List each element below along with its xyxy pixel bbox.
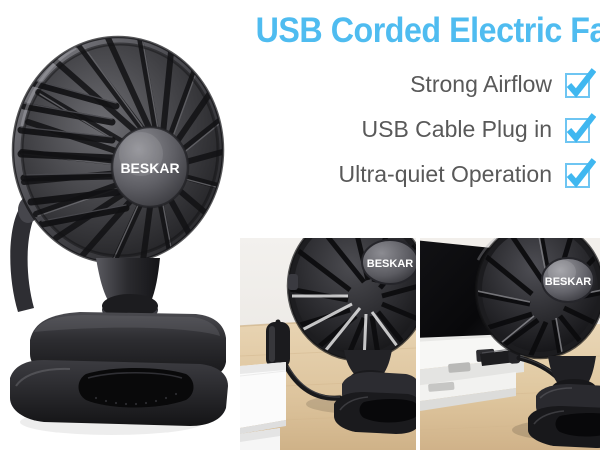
photo-laptop: BESKAR <box>420 238 600 450</box>
feature-item-ultra-quiet-operation: Ultra-quiet Operation <box>250 152 596 197</box>
photo-usb-adapter: BESKAR <box>240 238 416 450</box>
feature-item-strong-airflow: Strong Airflow <box>250 62 596 107</box>
photo-brand-label: BESKAR <box>367 258 414 270</box>
check-mark <box>564 68 596 100</box>
product-marketing-image: BESKAR USB Corded E <box>0 0 600 450</box>
feature-label: Ultra-quiet Operation <box>339 161 553 188</box>
check-mark <box>564 158 596 190</box>
photo-brand-label: BESKAR <box>545 276 592 288</box>
checkbox-checked-icon <box>564 69 596 101</box>
check-mark <box>564 113 596 145</box>
feature-list: Strong Airflow USB Cable Plug in Ultra-q… <box>250 62 596 197</box>
feature-item-usb-cable-plug-in: USB Cable Plug in <box>250 107 596 152</box>
feature-label: Strong Airflow <box>410 71 552 98</box>
page-title: USB Corded Electric Fan <box>256 8 596 56</box>
checkbox-checked-icon <box>564 159 596 191</box>
checkbox-checked-icon <box>564 114 596 146</box>
hero-brand-label: BESKAR <box>120 160 179 176</box>
feature-label: USB Cable Plug in <box>362 116 553 143</box>
hero-product-image: BESKAR <box>0 22 236 442</box>
